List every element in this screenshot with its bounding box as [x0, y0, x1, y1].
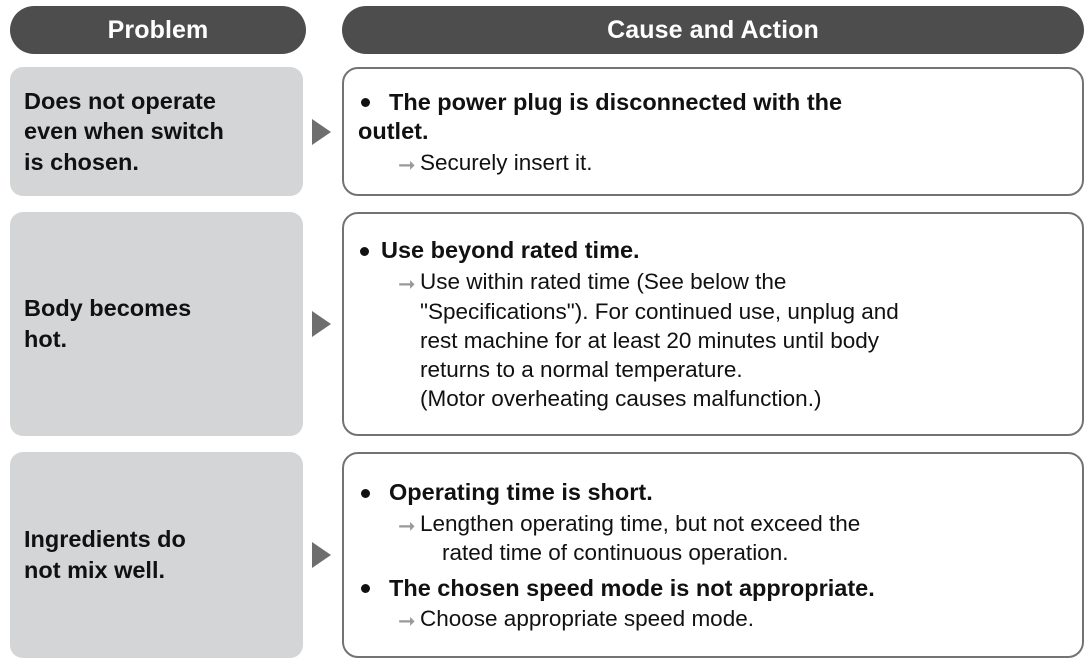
- header-cause-and-action-label: Cause and Action: [607, 16, 819, 45]
- cause-heading: Operating time is short.: [358, 478, 1068, 508]
- bullet-dot-icon: [361, 584, 370, 593]
- action-line: Securely insert it.: [420, 148, 1068, 177]
- problem-line: Does not operate: [24, 88, 216, 114]
- cause-line: The power plug is disconnected with the: [389, 89, 842, 115]
- cause-line: Operating time is short.: [389, 479, 653, 505]
- problem-line: even when switch: [24, 118, 224, 144]
- cause-line: The chosen speed mode is not appropriate…: [389, 575, 875, 601]
- cause-block: The power plug is disconnected with the …: [358, 88, 1068, 178]
- action-line: Choose appropriate speed mode.: [420, 604, 1068, 633]
- action-line: rated time of continuous operation.: [420, 538, 1068, 567]
- bullet-dot-icon: [360, 247, 369, 256]
- cause-heading: Use beyond rated time.: [358, 236, 1068, 266]
- table-row: Ingredients do not mix well. Operating t…: [0, 452, 1092, 658]
- action-line: Use within rated time (See below the: [420, 267, 1068, 296]
- header-cause-and-action: Cause and Action: [342, 6, 1084, 54]
- action-line: returns to a normal temperature.: [420, 355, 1068, 384]
- problem-text: Ingredients do not mix well.: [24, 524, 186, 585]
- cause-block: Use beyond rated time. ➞ Use within rate…: [358, 236, 1068, 413]
- triangle-right-icon: [312, 119, 331, 145]
- header-problem-label: Problem: [108, 16, 209, 45]
- arrow-right-icon: ➞: [398, 271, 416, 298]
- cause-heading: The power plug is disconnected with the …: [358, 88, 1068, 148]
- troubleshooting-table: Problem Cause and Action Does not operat…: [0, 0, 1092, 664]
- bullet-dot-icon: [361, 98, 370, 107]
- problem-text: Does not operate even when switch is cho…: [24, 86, 224, 178]
- cause-and-action-cell: The power plug is disconnected with the …: [342, 67, 1084, 196]
- action-text: ➞ Choose appropriate speed mode.: [358, 604, 1068, 633]
- action-text: ➞ Use within rated time (See below the "…: [358, 267, 1068, 413]
- problem-cell: Does not operate even when switch is cho…: [10, 67, 303, 196]
- problem-line: Body becomes: [24, 295, 191, 321]
- cause-block: The chosen speed mode is not appropriate…: [358, 574, 1068, 634]
- action-line: "Specifications"). For continued use, un…: [420, 297, 1068, 326]
- cause-and-action-cell: Operating time is short. ➞ Lengthen oper…: [342, 452, 1084, 658]
- triangle-right-icon: [312, 311, 331, 337]
- action-line: rest machine for at least 20 minutes unt…: [420, 326, 1068, 355]
- action-line: (Motor overheating causes malfunction.): [420, 384, 1068, 413]
- problem-cell: Body becomes hot.: [10, 212, 303, 436]
- action-line: Lengthen operating time, but not exceed …: [420, 509, 1068, 538]
- action-text: ➞ Lengthen operating time, but not excee…: [358, 509, 1068, 568]
- problem-cell: Ingredients do not mix well.: [10, 452, 303, 658]
- arrow-right-icon: ➞: [398, 608, 416, 635]
- problem-line: is chosen.: [24, 149, 139, 175]
- cause-line: outlet.: [358, 117, 429, 147]
- cause-line: Use beyond rated time.: [381, 237, 640, 263]
- table-row: Does not operate even when switch is cho…: [0, 67, 1092, 196]
- bullet-dot-icon: [361, 489, 370, 498]
- cause-block: Operating time is short. ➞ Lengthen oper…: [358, 478, 1068, 567]
- cause-and-action-cell: Use beyond rated time. ➞ Use within rate…: [342, 212, 1084, 436]
- action-text: ➞ Securely insert it.: [358, 148, 1068, 177]
- header-problem: Problem: [10, 6, 306, 54]
- table-row: Body becomes hot. Use beyond rated time.…: [0, 212, 1092, 436]
- problem-line: not mix well.: [24, 557, 165, 583]
- arrow-right-icon: ➞: [398, 513, 416, 540]
- arrow-right-icon: ➞: [398, 152, 416, 179]
- problem-text: Body becomes hot.: [24, 293, 191, 354]
- triangle-right-icon: [312, 542, 331, 568]
- cause-heading: The chosen speed mode is not appropriate…: [358, 574, 1068, 604]
- problem-line: hot.: [24, 326, 67, 352]
- problem-line: Ingredients do: [24, 526, 186, 552]
